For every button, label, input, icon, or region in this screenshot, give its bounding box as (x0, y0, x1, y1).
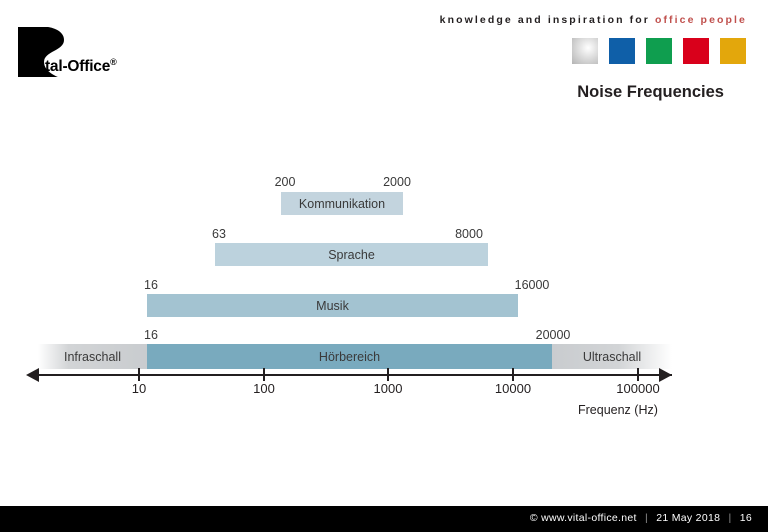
sprache-low-label: 63 (212, 227, 226, 241)
kommunikation-low-label: 200 (275, 175, 296, 189)
tick-label-10: 10 (132, 381, 146, 396)
x-axis-title: Frequenz (Hz) (578, 403, 658, 417)
bar-kommunikation-label: Kommunikation (299, 197, 385, 211)
footer-date: 21 May 2018 (656, 512, 720, 524)
noise-frequency-chart: 200 2000 Kommunikation 63 8000 Sprache 1… (0, 0, 768, 500)
tick-label-100: 100 (253, 381, 275, 396)
band-ultraschall: Ultraschall (552, 344, 672, 369)
audible-range-band-row: Infraschall Hörbereich Ultraschall (0, 344, 768, 369)
band-ultraschall-label: Ultraschall (583, 350, 641, 364)
hoerbereich-high-label: 20000 (536, 328, 571, 342)
footer-website[interactable]: www.vital-office.net (541, 512, 637, 524)
footer-text: © www.vital-office.net | 21 May 2018 | 1… (530, 512, 752, 524)
bar-sprache-label: Sprache (328, 248, 375, 262)
band-hoerbereich-label: Hörbereich (319, 350, 380, 364)
bar-musik: Musik (147, 294, 518, 317)
axis-arrow-left-icon (26, 368, 39, 382)
footer-separator-1: | (640, 512, 653, 524)
band-infraschall: Infraschall (38, 344, 147, 369)
footer-copyright: © (530, 512, 538, 524)
tick-100000 (637, 368, 639, 381)
sprache-high-label: 8000 (455, 227, 483, 241)
tick-label-100000: 100000 (616, 381, 659, 396)
tick-label-10000: 10000 (495, 381, 531, 396)
musik-low-label: 16 (144, 278, 158, 292)
band-hoerbereich: Hörbereich (147, 344, 552, 369)
band-infraschall-label: Infraschall (64, 350, 121, 364)
tick-10000 (512, 368, 514, 381)
footer-bar: © www.vital-office.net | 21 May 2018 | 1… (0, 506, 768, 532)
tick-label-1000: 1000 (374, 381, 403, 396)
musik-high-label: 16000 (515, 278, 550, 292)
tick-1000 (387, 368, 389, 381)
axis-arrow-right-icon (659, 368, 672, 382)
tick-100 (263, 368, 265, 381)
bar-sprache: Sprache (215, 243, 488, 266)
footer-separator-2: | (723, 512, 736, 524)
hoerbereich-low-label: 16 (144, 328, 158, 342)
tick-10 (138, 368, 140, 381)
bar-kommunikation: Kommunikation (281, 192, 403, 215)
kommunikation-high-label: 2000 (383, 175, 411, 189)
footer-page-number: 16 (740, 512, 752, 524)
x-axis-line (38, 374, 672, 376)
bar-musik-label: Musik (316, 299, 349, 313)
